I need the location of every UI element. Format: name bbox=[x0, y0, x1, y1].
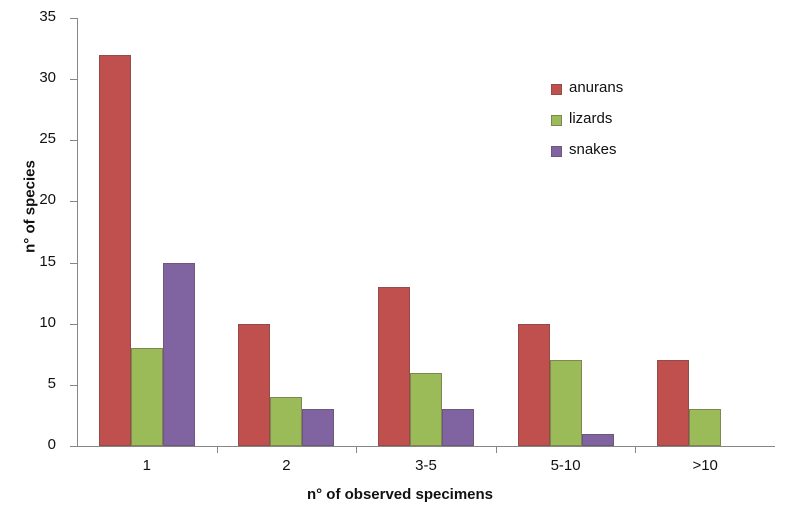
legend-swatch-icon bbox=[551, 146, 562, 157]
y-tick-label: 20 bbox=[22, 192, 56, 207]
bar-snakes-5-10[interactable] bbox=[582, 434, 614, 446]
legend-swatch-icon bbox=[551, 84, 562, 95]
bar-lizards-1[interactable] bbox=[131, 348, 163, 446]
plot-area bbox=[0, 0, 800, 522]
legend-label: anurans bbox=[569, 78, 623, 98]
bar-anurans-3-5[interactable] bbox=[378, 287, 410, 446]
bar-lizards-5-10[interactable] bbox=[550, 360, 582, 446]
y-tick-mark bbox=[70, 385, 78, 386]
x-tick-label: 1 bbox=[77, 457, 217, 474]
legend-swatch-icon bbox=[551, 115, 562, 126]
x-tick-mark bbox=[217, 446, 218, 453]
bar-anurans-2[interactable] bbox=[238, 324, 270, 446]
y-tick-label: 25 bbox=[22, 131, 56, 146]
y-tick-label: 30 bbox=[22, 70, 56, 85]
bar-anurans-1[interactable] bbox=[99, 55, 131, 446]
y-tick-label: 15 bbox=[22, 254, 56, 269]
y-tick-label: 10 bbox=[22, 315, 56, 330]
y-tick-mark bbox=[70, 263, 78, 264]
bar-snakes-1[interactable] bbox=[163, 263, 195, 446]
x-axis-line bbox=[77, 446, 775, 447]
legend-label: snakes bbox=[569, 140, 617, 160]
x-tick-label: 5-10 bbox=[496, 457, 636, 474]
y-axis-line bbox=[77, 18, 78, 446]
bar-lizards-2[interactable] bbox=[270, 397, 302, 446]
bar-chart: n° of species 05101520253035 123-55-10>1… bbox=[0, 0, 800, 522]
y-tick-mark bbox=[70, 79, 78, 80]
y-tick-label: 35 bbox=[22, 9, 56, 24]
x-tick-label: >10 bbox=[635, 457, 775, 474]
bar-snakes-3-5[interactable] bbox=[442, 409, 474, 446]
x-tick-label: 3-5 bbox=[356, 457, 496, 474]
legend-label: lizards bbox=[569, 109, 612, 129]
x-tick-mark bbox=[496, 446, 497, 453]
y-tick-mark bbox=[70, 140, 78, 141]
bar-lizards->10[interactable] bbox=[689, 409, 721, 446]
bar-anurans->10[interactable] bbox=[657, 360, 689, 446]
bar-snakes-2[interactable] bbox=[302, 409, 334, 446]
y-tick-mark bbox=[70, 18, 78, 19]
x-tick-mark bbox=[356, 446, 357, 453]
bar-anurans-5-10[interactable] bbox=[518, 324, 550, 446]
y-tick-label: 0 bbox=[22, 437, 56, 452]
x-axis-title: n° of observed specimens bbox=[0, 486, 800, 503]
y-tick-label: 5 bbox=[22, 376, 56, 391]
y-tick-mark bbox=[70, 324, 78, 325]
x-tick-label: 2 bbox=[217, 457, 357, 474]
x-tick-mark bbox=[635, 446, 636, 453]
y-tick-mark bbox=[70, 201, 78, 202]
bar-lizards-3-5[interactable] bbox=[410, 373, 442, 446]
